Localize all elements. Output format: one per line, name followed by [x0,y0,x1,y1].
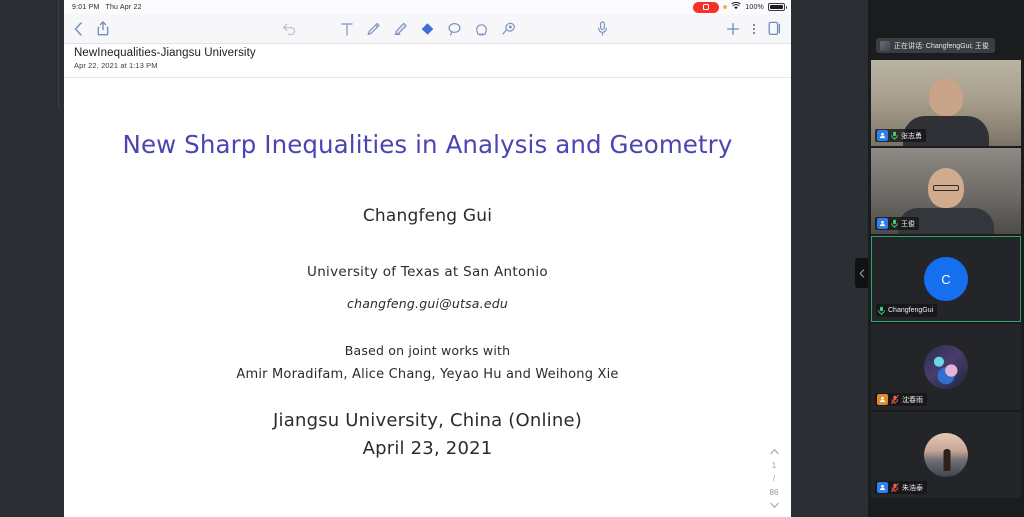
participant-tile[interactable]: 张志勇 [871,60,1021,146]
battery-percent: 100% [745,4,764,11]
wifi-icon [731,2,741,12]
highlighter-tool-icon[interactable] [393,22,407,36]
pen-tool-icon[interactable] [366,22,380,36]
mic-on-icon [891,215,898,233]
participant-label: 沈春雨 [875,393,927,406]
microphone-icon[interactable] [597,21,608,36]
chevron-left-icon[interactable] [74,22,83,36]
shared-screen: 9:01 PM Thu Apr 22 100% [64,0,791,517]
slide-date: April 23, 2021 [363,438,493,459]
plus-icon[interactable] [726,22,740,36]
chevron-down-icon[interactable] [770,502,779,511]
share-icon[interactable] [97,21,109,36]
participant-name: ChangfengGui [888,307,933,314]
participant-tile[interactable]: 王俊 [871,148,1021,234]
shape-tool-icon[interactable] [474,22,488,36]
participant-badge [877,218,888,229]
status-time: 9:01 PM [72,4,99,11]
participant-name: 张志勇 [901,131,922,141]
active-speaker-banner: 正在讲话: ChangfengGui; 王俊 [876,38,995,53]
slide-email: changfeng.gui@utsa.edu [347,296,508,311]
toolbar-tools [340,22,515,36]
participant-badge [877,482,888,493]
undo-icon[interactable] [282,22,297,35]
slide-canvas[interactable]: New Sharp Inequalities in Analysis and G… [64,78,791,517]
participant-label: 张志勇 [875,129,926,142]
participant-strip: 正在讲话: ChangfengGui; 王俊 张志勇 [868,0,1024,517]
lasso-tool-icon[interactable] [447,22,461,36]
participant-tile[interactable]: 沈春雨 [871,324,1021,410]
chevron-up-icon[interactable] [770,448,779,457]
document-header: NewInequalities-Jiangsu University Apr 2… [64,44,791,78]
participant-label: ChangfengGui [876,304,937,317]
slide-based-on: Based on joint works with [345,343,511,358]
zoom-meeting-window: 9:01 PM Thu Apr 22 100% [0,0,1024,517]
page-view-icon[interactable] [768,21,781,36]
participant-label: 王俊 [875,217,919,230]
participant-badge [877,394,888,405]
slide-coauthors: Amir Moradifam, Alice Chang, Yeyao Hu an… [236,367,618,382]
text-tool-icon[interactable] [340,22,353,36]
left-gutter-panel [0,0,59,108]
participant-name: 沈春雨 [902,395,923,405]
notability-toolbar [64,14,791,44]
left-gutter [0,0,64,517]
status-date: Thu Apr 22 [105,4,141,11]
mic-off-icon [891,479,899,497]
mic-off-icon [891,391,899,409]
participant-name: 王俊 [901,219,915,229]
orange-dot-icon [723,5,727,9]
sticker-tool-icon[interactable] [501,22,515,36]
participant-name: 朱浩泰 [902,483,923,493]
avatar [924,345,968,389]
page-separator: / [773,475,775,483]
active-speaker-label: 正在讲话: ChangfengGui; 王俊 [894,41,989,51]
avatar: C [924,257,968,301]
page-navigation: 1 / 86 [763,448,785,511]
slide-affiliation: University of Texas at San Antonio [307,264,548,280]
slide-venue: Jiangsu University, China (Online) [273,410,582,431]
mic-on-icon [891,127,898,145]
eraser-tool-icon[interactable] [420,22,434,36]
page-current: 1 [772,462,776,470]
slide-title: New Sharp Inequalities in Analysis and G… [123,130,733,159]
avatar-initial: C [941,272,950,287]
presentation-slide: New Sharp Inequalities in Analysis and G… [64,78,791,517]
mic-on-icon [878,302,885,320]
more-options-icon[interactable] [753,24,755,34]
participant-label: 朱浩泰 [875,481,927,494]
participant-badge [877,130,888,141]
document-title: NewInequalities-Jiangsu University [74,47,791,59]
participant-tile-active[interactable]: C ChangfengGui [871,236,1021,322]
avatar [924,433,968,477]
document-date: Apr 22, 2021 at 1:13 PM [74,61,791,70]
speaker-thumb-icon [880,41,890,51]
collapse-panel-icon[interactable] [855,258,868,288]
ipad-status-bar: 9:01 PM Thu Apr 22 100% [64,0,791,14]
participant-tile[interactable]: 朱浩泰 [871,412,1021,498]
battery-icon [768,3,785,11]
slide-author: Changfeng Gui [363,206,492,226]
record-indicator[interactable] [693,2,719,13]
page-total: 86 [770,489,779,497]
